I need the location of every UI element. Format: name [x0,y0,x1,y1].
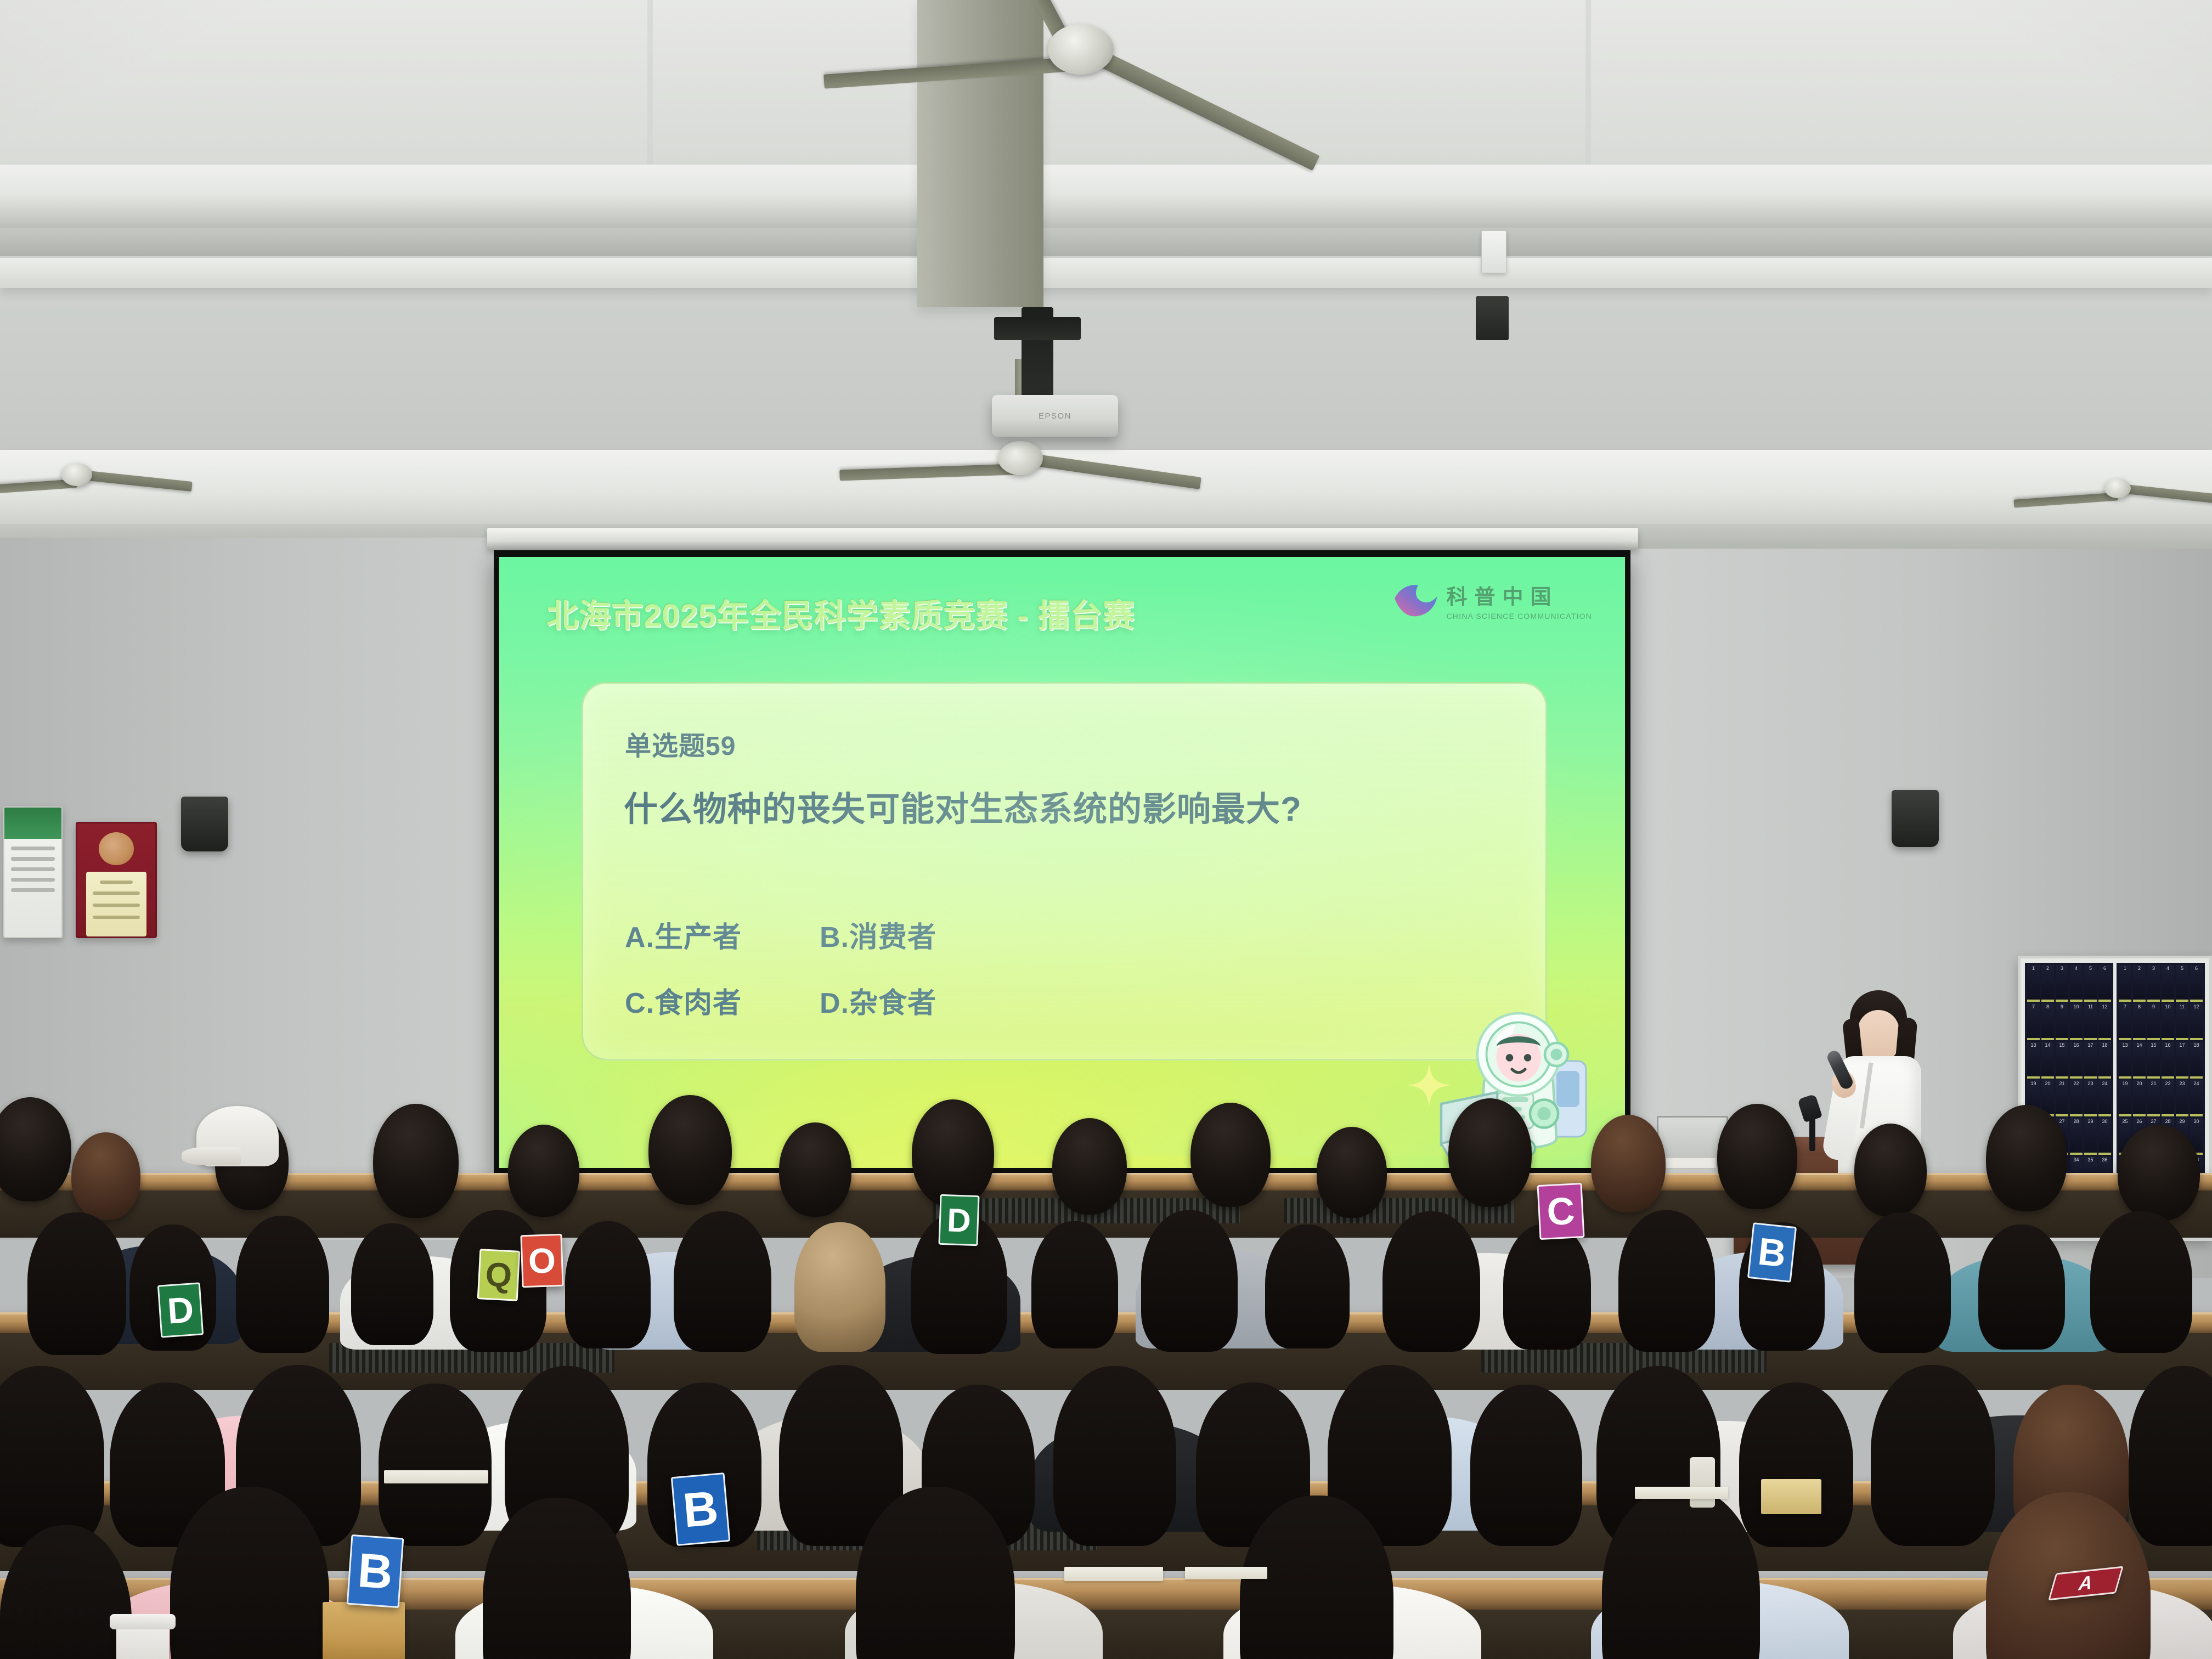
option-b: B.消费者 [820,914,1014,955]
desk-paper [1185,1567,1267,1579]
audience-head [1448,1098,1532,1207]
ceiling-panel-right [1591,0,2212,181]
fan-hub [1048,24,1114,75]
key-cell: 8 [2133,1003,2146,1040]
fan-blade [1020,452,1201,489]
tote-bag [323,1602,405,1659]
key-cell: 1 [2027,965,2040,1002]
quiz-slide: 北海市2025年全民科学素质竞赛 - 擂台赛 科普中国 CHINA SCIENC… [499,557,1625,1168]
key-cell: 5 [2084,965,2097,1002]
audience-head [1141,1210,1238,1352]
option-row-bottom: C.食肉者 D.杂食者 [625,980,1014,1021]
key-cell: 1 [2119,965,2131,1002]
key-cell: 5 [2176,965,2188,1002]
audience-head [1591,1115,1666,1212]
wall-speaker-left [181,797,228,851]
key-cell: 17 [2176,1042,2188,1079]
audience-head [2129,1366,2212,1546]
key-cell: 2 [2133,965,2146,1002]
answer-card: C [1537,1183,1584,1240]
key-cell: 18 [2098,1042,2111,1079]
audience-head [779,1122,851,1217]
plaque-inner-card [86,872,147,936]
audience-head [1618,1210,1715,1352]
key-cell: 9 [2147,1003,2160,1040]
option-d: D.杂食者 [820,980,1014,1021]
question-card: 单选题59 什么物种的丧失可能对生态系统的影响最大? A.生产者 B.消费者 C… [582,682,1547,1060]
option-row-top: A.生产者 B.消费者 [625,914,1014,955]
fan-blade [2013,493,2118,508]
answer-card: B [347,1534,404,1608]
audience-head [1503,1223,1591,1350]
key-cell: 4 [2162,965,2174,1002]
key-cell: 6 [2190,965,2203,1002]
audience-head [565,1221,651,1348]
key-cell: 10 [2070,1003,2083,1040]
ceiling-sensor-box [1481,230,1506,273]
notice-board-lines [4,839,61,906]
ceiling-fan-center [779,0,1383,121]
ceiling-fan-left [0,439,198,510]
answer-card: O [520,1234,563,1288]
key-cell: 16 [2070,1042,2083,1079]
option-a: A.生产者 [625,914,820,955]
audience-head [351,1223,433,1345]
logo-english-text: CHINA SCIENCE COMMUNICATION [1447,612,1593,620]
audience-head [1470,1385,1582,1546]
key-cell: 7 [2119,1003,2131,1040]
notice-board-header [4,808,61,839]
audience-head [794,1222,885,1352]
key-cell: 12 [2190,1003,2203,1040]
answer-card: B [671,1472,731,1546]
audience-head [1717,1104,1797,1209]
notice-line [11,888,55,892]
key-cell: 11 [2176,1003,2188,1040]
audience-cap [196,1106,279,1166]
desk-paper [384,1470,488,1483]
plaque-line [93,904,140,907]
key-cell: 7 [2027,1003,2040,1040]
key-cell: 15 [2147,1042,2160,1079]
ceiling-beam-lower [0,258,2212,288]
presenter-face [1858,1010,1899,1062]
key-cell: 10 [2162,1003,2174,1040]
audience-head [2118,1125,2200,1221]
ceiling-fan-right [1997,455,2212,521]
key-cell: 14 [2041,1042,2054,1079]
audience-head [1052,1118,1127,1215]
audience-head [1854,1212,1951,1353]
audience-head [508,1125,579,1217]
fan-hub [61,463,92,486]
projection-screen: 北海市2025年全民科学素质竞赛 - 擂台赛 科普中国 CHINA SCIENC… [494,550,1630,1176]
audience-head [1986,1105,2067,1211]
audience-head [1190,1103,1271,1207]
key-cell: 8 [2041,1003,2054,1040]
logo-text-block: 科普中国 CHINA SCIENCE COMMUNICATION [1447,587,1593,620]
projector-mount-plate [994,317,1081,340]
projector: EPSON [992,395,1118,437]
key-cell: 11 [2084,1003,2097,1040]
key-cell: 3 [2056,965,2068,1002]
audience-head [0,1097,71,1201]
fan-blade [77,470,193,492]
wall-speaker-right [1892,790,1939,847]
wall-notice-board [3,806,63,938]
projector-brand-label: EPSON [1039,411,1071,421]
ceiling-beam-upper [0,165,2212,230]
key-cell: 9 [2056,1003,2068,1040]
kepu-bird-mark-icon [1392,582,1439,625]
audience-head [2090,1211,2192,1353]
key-cell: 18 [2190,1042,2203,1079]
option-c: C.食肉者 [625,980,820,1021]
ceiling-camera-mount [1476,296,1509,340]
wall-honor-plaque [76,822,157,938]
audience-head [373,1104,459,1218]
lecture-hall-scene: EPSON 1 2 3 4 [0,0,2212,1659]
key-cell: 15 [2056,1042,2068,1079]
audience-head [27,1212,126,1355]
key-cell: 13 [2119,1042,2131,1079]
audience-head [1317,1127,1387,1218]
key-cell: 17 [2084,1042,2097,1079]
audience-head [1383,1211,1480,1352]
key-cell: 4 [2070,965,2083,1002]
notice-line [11,857,55,861]
plaque-emblem-icon [99,832,134,865]
water-bottle [1690,1457,1715,1508]
audience-head [912,1099,994,1207]
kepu-china-logo: 科普中国 CHINA SCIENCE COMMUNICATION [1392,582,1593,625]
projection-screen-roller [487,528,1638,550]
notice-line [11,878,55,882]
answer-card: D [157,1282,204,1338]
audience-head [71,1132,140,1220]
key-cell: 13 [2027,1042,2040,1079]
audience-head [674,1211,771,1352]
slide-header-title: 北海市2025年全民科学素质竞赛 - 擂台赛 [546,590,1135,636]
audience-head [379,1384,492,1546]
fan-hub [2104,478,2131,498]
answer-card: B [1747,1222,1797,1283]
audience-head [236,1216,329,1353]
desk-paper [1635,1487,1728,1499]
plaque-line [93,916,140,919]
drink-cup-lid [110,1614,176,1629]
audience-head [0,1366,104,1547]
key-cell: 2 [2041,965,2054,1002]
logo-chinese-text: 科普中国 [1447,587,1593,608]
plaque-line [100,881,133,884]
key-cell: 16 [2162,1042,2174,1079]
ceiling-panel-left [0,0,647,181]
audience-head [1871,1365,1995,1546]
key-cell: 14 [2133,1042,2146,1079]
audience-head [1854,1124,1927,1217]
fan-blade [823,57,1082,89]
key-cell: 12 [2098,1003,2111,1040]
audience-head [1265,1224,1350,1348]
answer-card: Q [477,1249,521,1301]
fan-blade [2118,484,2212,504]
audience-head [648,1095,732,1205]
key-cell: 3 [2147,965,2160,1002]
tote-bag [1761,1479,1821,1514]
ceiling-beam-upper-face [0,228,2212,256]
question-number-label: 单选题59 [625,724,736,763]
audience-head [1978,1224,2065,1350]
fan-blade [839,464,1020,481]
fan-hub [998,441,1043,475]
audience-area [0,1108,2212,1659]
key-cell: 6 [2098,965,2111,1002]
plaque-line [93,891,140,895]
notice-line [11,867,55,871]
audience-head [1053,1366,1176,1546]
answer-card: D [938,1194,979,1246]
audience-head [1739,1383,1853,1547]
desk-paper [1064,1567,1163,1581]
question-text: 什么物种的丧失可能对生态系统的影响最大? [624,781,1302,831]
notice-line [11,847,55,850]
audience-head [1031,1221,1118,1348]
